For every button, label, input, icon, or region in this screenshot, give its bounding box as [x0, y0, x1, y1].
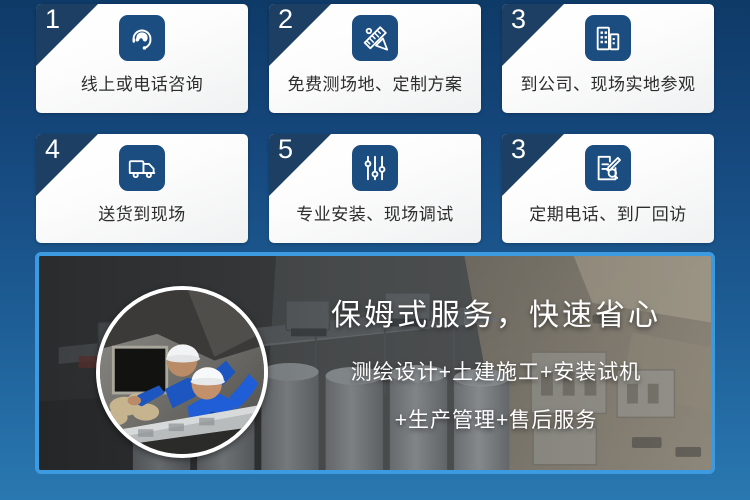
- service-banner[interactable]: 保姆式服务，快速省心 测绘设计+土建施工+安装试机 +生产管理+售后服务: [35, 252, 715, 474]
- banner-headline: 保姆式服务，快速省心: [289, 290, 703, 334]
- two-workers-hardhats-photo: [96, 286, 268, 458]
- banner-text-block: 保姆式服务，快速省心 测绘设计+土建施工+安装试机 +生产管理+售后服务: [289, 290, 703, 434]
- step-label: 定期电话、到厂回访: [529, 200, 687, 225]
- step-label: 到公司、现场实地参观: [521, 70, 696, 95]
- step-number: 4: [45, 136, 60, 163]
- step-number: 1: [45, 6, 60, 33]
- delivery-truck-icon: [119, 145, 165, 191]
- sliders-icon: [352, 145, 398, 191]
- step-number: 3: [511, 6, 526, 33]
- step-card-5[interactable]: 5 专业安装、现场调试: [269, 134, 481, 243]
- step-label: 免费测场地、定制方案: [288, 70, 463, 95]
- step-label: 专业安装、现场调试: [296, 200, 454, 225]
- step-card-2[interactable]: 2 免费测场地、定制方案: [269, 4, 481, 113]
- service-steps-grid: 1 线上或电话咨询 2: [36, 4, 714, 243]
- step-number: 5: [278, 136, 293, 163]
- document-edit-icon: [585, 145, 631, 191]
- ruler-pencil-icon: [352, 15, 398, 61]
- step-number: 2: [278, 6, 293, 33]
- step-card-6[interactable]: 3 定期电话、到厂回访: [502, 134, 714, 243]
- banner-subline-1: 测绘设计+土建施工+安装试机: [289, 356, 703, 386]
- headset-icon: [119, 15, 165, 61]
- banner-subline-2: +生产管理+售后服务: [289, 404, 703, 434]
- step-card-1[interactable]: 1 线上或电话咨询: [36, 4, 248, 113]
- step-number: 3: [511, 136, 526, 163]
- step-card-4[interactable]: 4 送货到现场: [36, 134, 248, 243]
- step-card-3[interactable]: 3 到公司、现场实地参观: [502, 4, 714, 113]
- building-icon: [585, 15, 631, 61]
- step-label: 送货到现场: [98, 200, 186, 225]
- step-label: 线上或电话咨询: [81, 70, 204, 95]
